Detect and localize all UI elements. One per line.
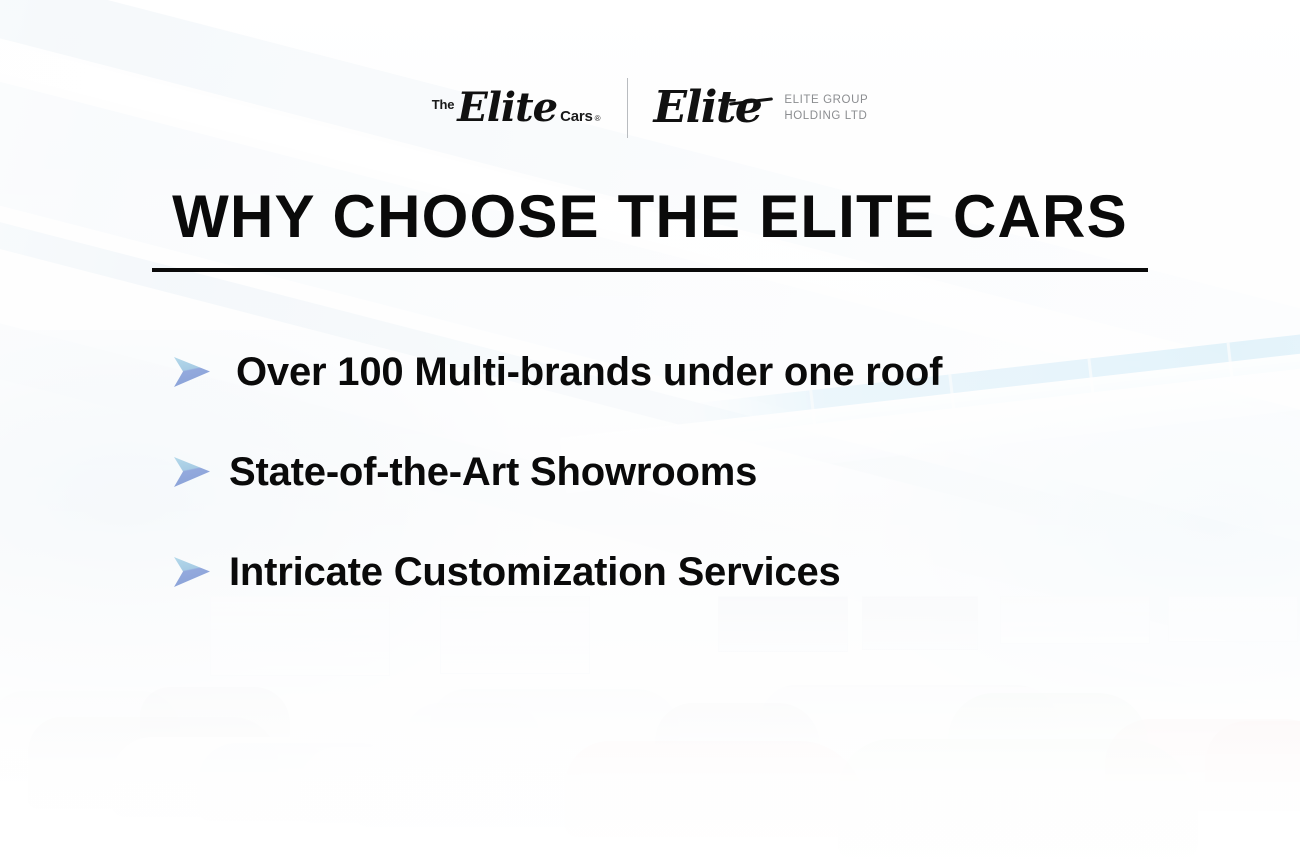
page-title: WHY CHOOSE THE ELITE CARS (0, 185, 1300, 248)
benefits-list: Over 100 Multi-brands under one roof Sta… (0, 322, 1300, 622)
poster-content: The Elite Cars ® Elite ELITE GROUP HOLDI… (0, 0, 1300, 867)
the-elite-cars-logo[interactable]: The Elite Cars ® (432, 88, 627, 128)
list-item-label: State-of-the-Art Showrooms (229, 450, 757, 494)
list-item: Intricate Customization Services (0, 522, 1300, 622)
list-item: State-of-the-Art Showrooms (0, 422, 1300, 522)
list-item: Over 100 Multi-brands under one roof (0, 322, 1300, 422)
list-item-label: Intricate Customization Services (229, 550, 841, 594)
elite-group-holding-logo[interactable]: Elite ELITE GROUP HOLDING LTD (628, 86, 869, 130)
logo-group-line-2: HOLDING LTD (784, 109, 868, 123)
logo-group-wordmark: ELITE GROUP HOLDING LTD (770, 93, 868, 124)
logo-bar: The Elite Cars ® Elite ELITE GROUP HOLDI… (0, 72, 1300, 144)
logo-word-the: The (432, 97, 455, 112)
title-underline-rule (152, 268, 1148, 272)
list-item-label: Over 100 Multi-brands under one roof (236, 350, 942, 394)
logo-word-elite-signature: Elite (654, 86, 762, 130)
logo-group-line-1: ELITE GROUP (784, 93, 868, 107)
poster-canvas: The Elite Cars ® Elite ELITE GROUP HOLDI… (0, 0, 1300, 867)
arrow-right-icon (172, 455, 212, 489)
arrow-right-icon (172, 355, 212, 389)
logo-word-elite-script: Elite (456, 88, 558, 128)
logo-word-cars: Cars (560, 108, 593, 125)
arrow-right-icon (172, 555, 212, 589)
registered-trademark-icon: ® (595, 114, 601, 123)
